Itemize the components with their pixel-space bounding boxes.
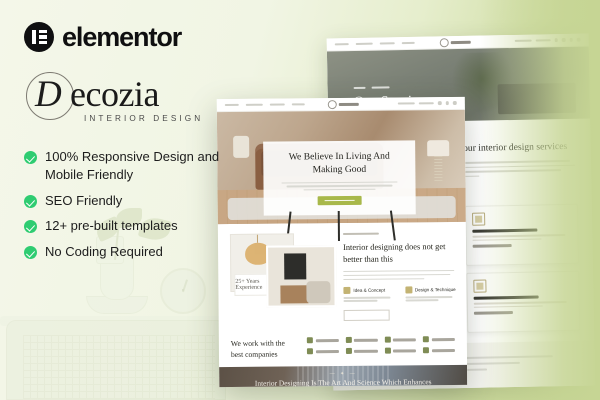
logo-wordmark — [339, 102, 359, 105]
breadcrumb-home[interactable] — [354, 87, 366, 89]
design-icon — [405, 287, 412, 294]
feature-item: No Coding Required — [24, 243, 234, 261]
hero-lamp-shade — [427, 140, 449, 156]
check-icon — [24, 246, 37, 259]
nav-item[interactable] — [335, 43, 349, 46]
about-feature-label: Idea & Concept — [353, 288, 385, 293]
hero-cta-button[interactable] — [318, 196, 362, 205]
wall-art-frame — [284, 253, 306, 279]
hero-plant — [233, 136, 249, 158]
decozia-initial: D — [35, 76, 62, 113]
hero-message-card: We Believe In Living And Making Good — [263, 140, 416, 215]
right-edge-fade — [480, 0, 600, 400]
cabinet — [280, 285, 308, 303]
client-logo[interactable] — [307, 337, 339, 343]
clock-icon — [160, 268, 206, 314]
client-logo[interactable] — [423, 336, 455, 342]
logo-ring-icon — [328, 100, 337, 109]
check-icon — [24, 195, 37, 208]
home-quote-banner: — ✦ — Interior Designing Is The Art And … — [219, 365, 467, 387]
about-feature-label: Design & Technique — [415, 287, 456, 292]
clients-headline: We work with the best companies — [231, 338, 297, 361]
about-headline: Interior designing does not get better t… — [343, 241, 456, 266]
elementor-wordmark: elementor — [62, 24, 181, 51]
promo-banner: Our Services Elevate your home's style w… — [0, 0, 600, 400]
client-logo-grid — [307, 336, 455, 354]
social-icon[interactable] — [446, 101, 450, 105]
nav-email[interactable] — [419, 102, 434, 105]
left-content-column: elementor D ecozia INTERIOR DESIGN 100% … — [24, 22, 234, 268]
nav-item-projects[interactable] — [270, 103, 285, 106]
idea-icon — [343, 287, 350, 294]
home-clients-section: We work with the best companies — [219, 328, 467, 360]
site-logo[interactable] — [440, 37, 471, 47]
mockup-home-page[interactable]: We Believe In Living And Making Good 25+… — [217, 97, 468, 387]
home-hero: We Believe In Living And Making Good — [217, 110, 466, 224]
nav-item-about[interactable] — [246, 103, 263, 106]
client-logo[interactable] — [423, 347, 455, 353]
social-icon[interactable] — [453, 101, 457, 105]
check-icon — [24, 220, 37, 233]
about-text-block: Interior designing does not get better t… — [343, 232, 457, 321]
decozia-tagline: INTERIOR DESIGN — [84, 114, 203, 123]
breadcrumb[interactable] — [354, 86, 390, 89]
feature-label: 100% Responsive Design and Mobile Friend… — [45, 148, 234, 185]
logo-wordmark — [451, 40, 471, 43]
client-logo[interactable] — [384, 337, 416, 343]
about-image-group: 25+ Years Experience — [230, 233, 335, 304]
feature-label: No Coding Required — [45, 243, 163, 261]
armchair — [306, 281, 330, 303]
sideboard — [6, 320, 226, 400]
feature-item: SEO Friendly — [24, 192, 234, 210]
feature-label: 12+ pre-built templates — [45, 217, 178, 235]
hero-subtext — [273, 181, 405, 191]
about-feature: Design & Technique — [405, 286, 457, 302]
nav-item[interactable] — [356, 42, 373, 45]
site-logo[interactable] — [328, 99, 359, 108]
feature-list: 100% Responsive Design and Mobile Friend… — [24, 148, 234, 261]
hero-headline: We Believe In Living And Making Good — [273, 150, 405, 177]
nav-item[interactable] — [402, 42, 415, 45]
elementor-logo-icon — [24, 22, 54, 52]
decozia-wordmark: ecozia — [70, 76, 159, 112]
about-feature-list: Idea & Concept Design & Technique — [343, 286, 456, 303]
hero-lamp-stand — [434, 156, 442, 182]
feature-item: 100% Responsive Design and Mobile Friend… — [24, 148, 234, 185]
about-image-secondary — [266, 245, 337, 308]
client-logo[interactable] — [346, 348, 378, 354]
about-paragraph — [343, 270, 456, 281]
elementor-brand: elementor — [24, 22, 234, 52]
about-cta-button[interactable] — [344, 310, 390, 321]
about-feature: Idea & Concept — [343, 287, 395, 303]
logo-ring-icon — [440, 38, 449, 47]
feature-item: 12+ pre-built templates — [24, 217, 234, 235]
client-logo[interactable] — [307, 348, 339, 354]
nav-item[interactable] — [380, 42, 395, 45]
nav-item-pages[interactable] — [292, 103, 305, 106]
nav-phone[interactable] — [398, 102, 415, 105]
client-logo[interactable] — [384, 348, 416, 354]
decozia-brand: D ecozia INTERIOR DESIGN — [24, 70, 234, 126]
feature-label: SEO Friendly — [45, 192, 122, 210]
social-icon[interactable] — [438, 101, 442, 105]
check-icon — [24, 151, 37, 164]
nav-contact-group[interactable] — [398, 101, 457, 105]
client-logo[interactable] — [346, 337, 378, 343]
breadcrumb-current — [372, 86, 390, 88]
